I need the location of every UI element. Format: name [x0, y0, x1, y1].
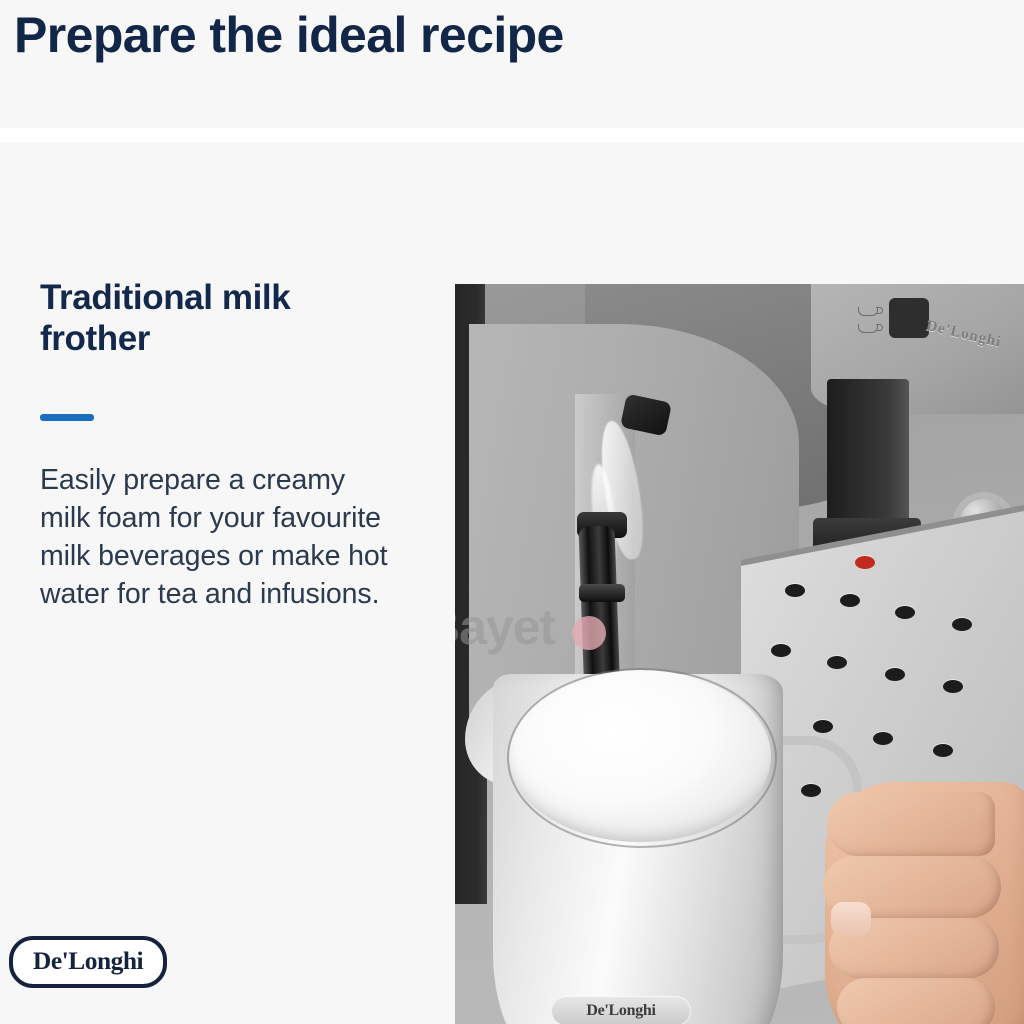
drip-tray-hole: [771, 644, 791, 657]
drip-tray-hole: [873, 732, 893, 745]
product-photo: De'Longhi: [455, 284, 1024, 1024]
header-divider: [0, 128, 1024, 142]
drip-tray-hole: [785, 584, 805, 597]
drip-tray-hole: [885, 668, 905, 681]
thumbnail: [831, 902, 871, 936]
header-band: Prepare the ideal recipe: [0, 0, 1024, 128]
drip-tray-hole: [943, 680, 963, 693]
brand-logo-text: De'Longhi: [33, 948, 143, 976]
copy-panel: Traditional milk frother Easily prepare …: [0, 142, 455, 1024]
drip-tray-hole: [813, 720, 833, 733]
red-float-indicator: [855, 556, 875, 569]
drip-tray-hole: [933, 744, 953, 757]
feature-heading: Traditional milk frother: [40, 277, 370, 360]
drip-tray-hole: [840, 594, 860, 607]
photo-inner: De'Longhi: [455, 284, 1024, 1024]
product-feature-page: Prepare the ideal recipe Traditional mil…: [0, 0, 1024, 1024]
brand-logo: De'Longhi: [9, 936, 167, 988]
finger: [837, 978, 995, 1024]
milk-jug-rim: [507, 668, 777, 848]
finger: [827, 792, 995, 856]
drip-tray-hole: [952, 618, 972, 631]
large-cup-icon: [858, 324, 878, 333]
content-area: Traditional milk frother Easily prepare …: [0, 142, 1024, 1024]
feature-accent-rule: [40, 414, 94, 421]
small-cup-icon: [858, 307, 878, 316]
feature-body-text: Easily prepare a creamy milk foam for yo…: [40, 462, 395, 614]
drip-tray-hole: [827, 656, 847, 669]
steam-wand-collar-lower: [579, 584, 625, 602]
milk-jug-brand-logo: De'Longhi: [551, 996, 691, 1024]
display-window: [889, 298, 929, 338]
page-title: Prepare the ideal recipe: [14, 8, 564, 62]
machine-dark-column: [827, 379, 909, 539]
drip-tray-hole: [895, 606, 915, 619]
